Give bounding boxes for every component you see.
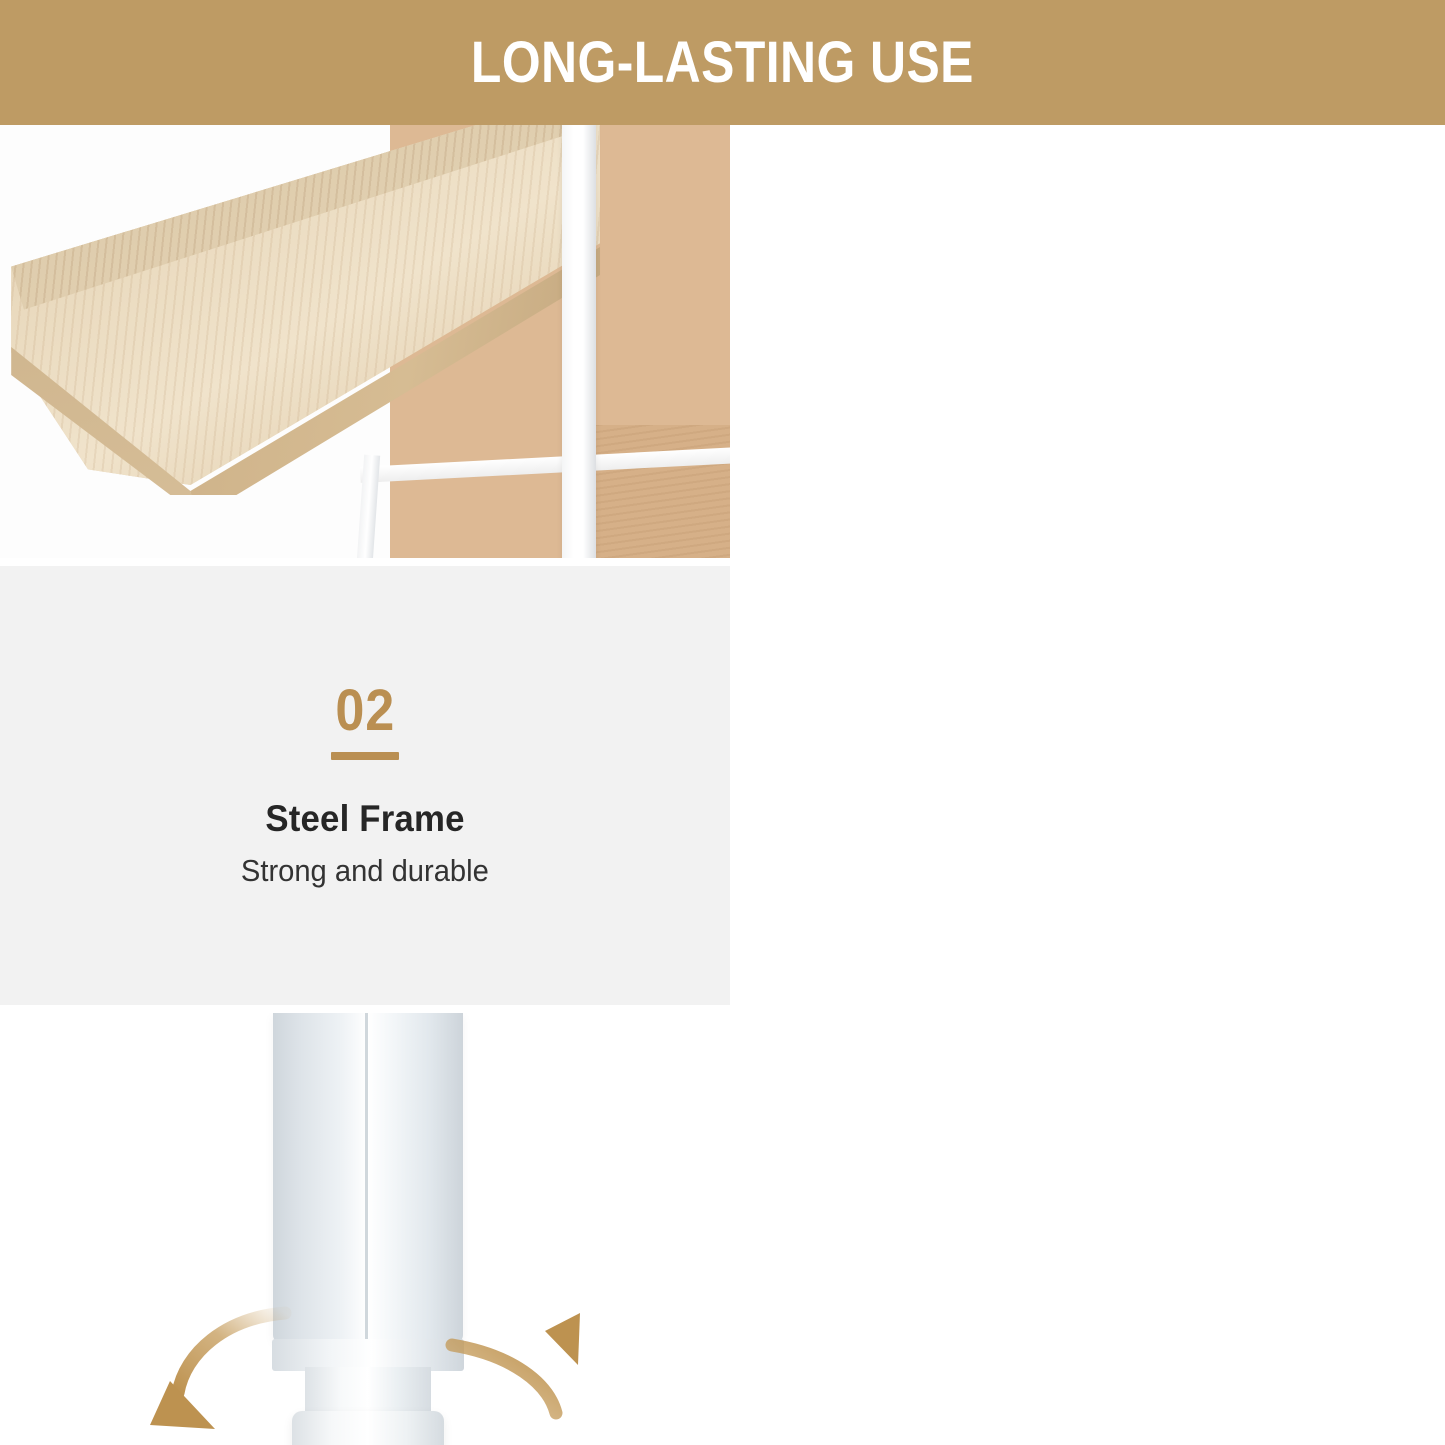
infographic-page: LONG-LASTING USE 01 High-quality MDF Boa…	[0, 0, 1445, 1445]
feature-text-02: 02 Steel Frame Strong and durable	[0, 566, 730, 1005]
foot-pad-scene	[0, 1013, 730, 1445]
rotation-arrows-group	[0, 1013, 730, 1445]
page-title: LONG-LASTING USE	[471, 29, 974, 96]
white-steel-post	[562, 125, 596, 558]
rotation-arc-left	[178, 1313, 285, 1393]
lower-wood-shelf	[590, 425, 730, 558]
feature-subtitle-02: Strong and durable	[241, 852, 489, 889]
feature-grid: 01 High-quality MDF Board Smooth surface	[0, 125, 1445, 1445]
header-banner: LONG-LASTING USE	[0, 0, 1445, 125]
rotation-arrowhead-right	[545, 1313, 580, 1365]
mdf-shelf-scene	[0, 125, 730, 558]
feature-title-02: Steel Frame	[265, 798, 464, 841]
number-underline-02	[331, 752, 399, 760]
mdf-shelf-photo	[0, 125, 730, 558]
rotation-arc-right	[452, 1345, 556, 1413]
feature-number-02: 02	[335, 682, 395, 740]
foot-pad-photo	[0, 1013, 730, 1445]
